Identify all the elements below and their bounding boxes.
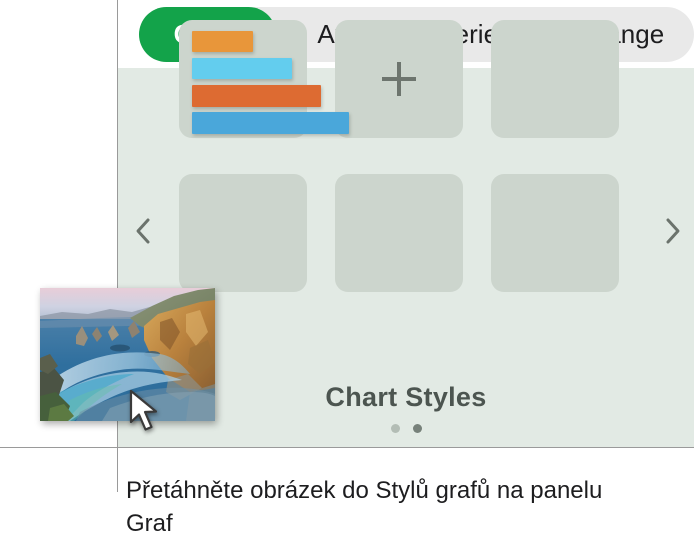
chevron-right-icon[interactable] (656, 214, 690, 248)
callout-leader-line (117, 448, 118, 492)
mouse-pointer (128, 389, 162, 433)
bar-chart-thumbnail[interactable] (179, 20, 307, 138)
chart-style-tile-4[interactable] (179, 174, 307, 292)
chart-styles-grid (168, 20, 648, 310)
page-dot-1[interactable] (391, 424, 400, 433)
horizontal-divider (0, 447, 694, 448)
caption-text: Přetáhněte obrázek do Stylů grafů na pan… (126, 474, 606, 540)
chevron-left-icon[interactable] (126, 214, 160, 248)
bar-series-2 (192, 58, 292, 79)
screenshot-root: Chart Axis Series Arrange (0, 0, 694, 542)
chart-style-tile-5[interactable] (335, 174, 463, 292)
chart-style-tile-6[interactable] (491, 174, 619, 292)
plus-icon[interactable] (335, 20, 463, 138)
bar-series-4 (192, 112, 349, 134)
bar-series-1 (192, 31, 253, 52)
page-indicator[interactable] (118, 424, 694, 433)
bar-series-3 (192, 85, 321, 107)
chart-style-tile-3[interactable] (491, 20, 619, 138)
page-dot-2[interactable] (413, 424, 422, 433)
